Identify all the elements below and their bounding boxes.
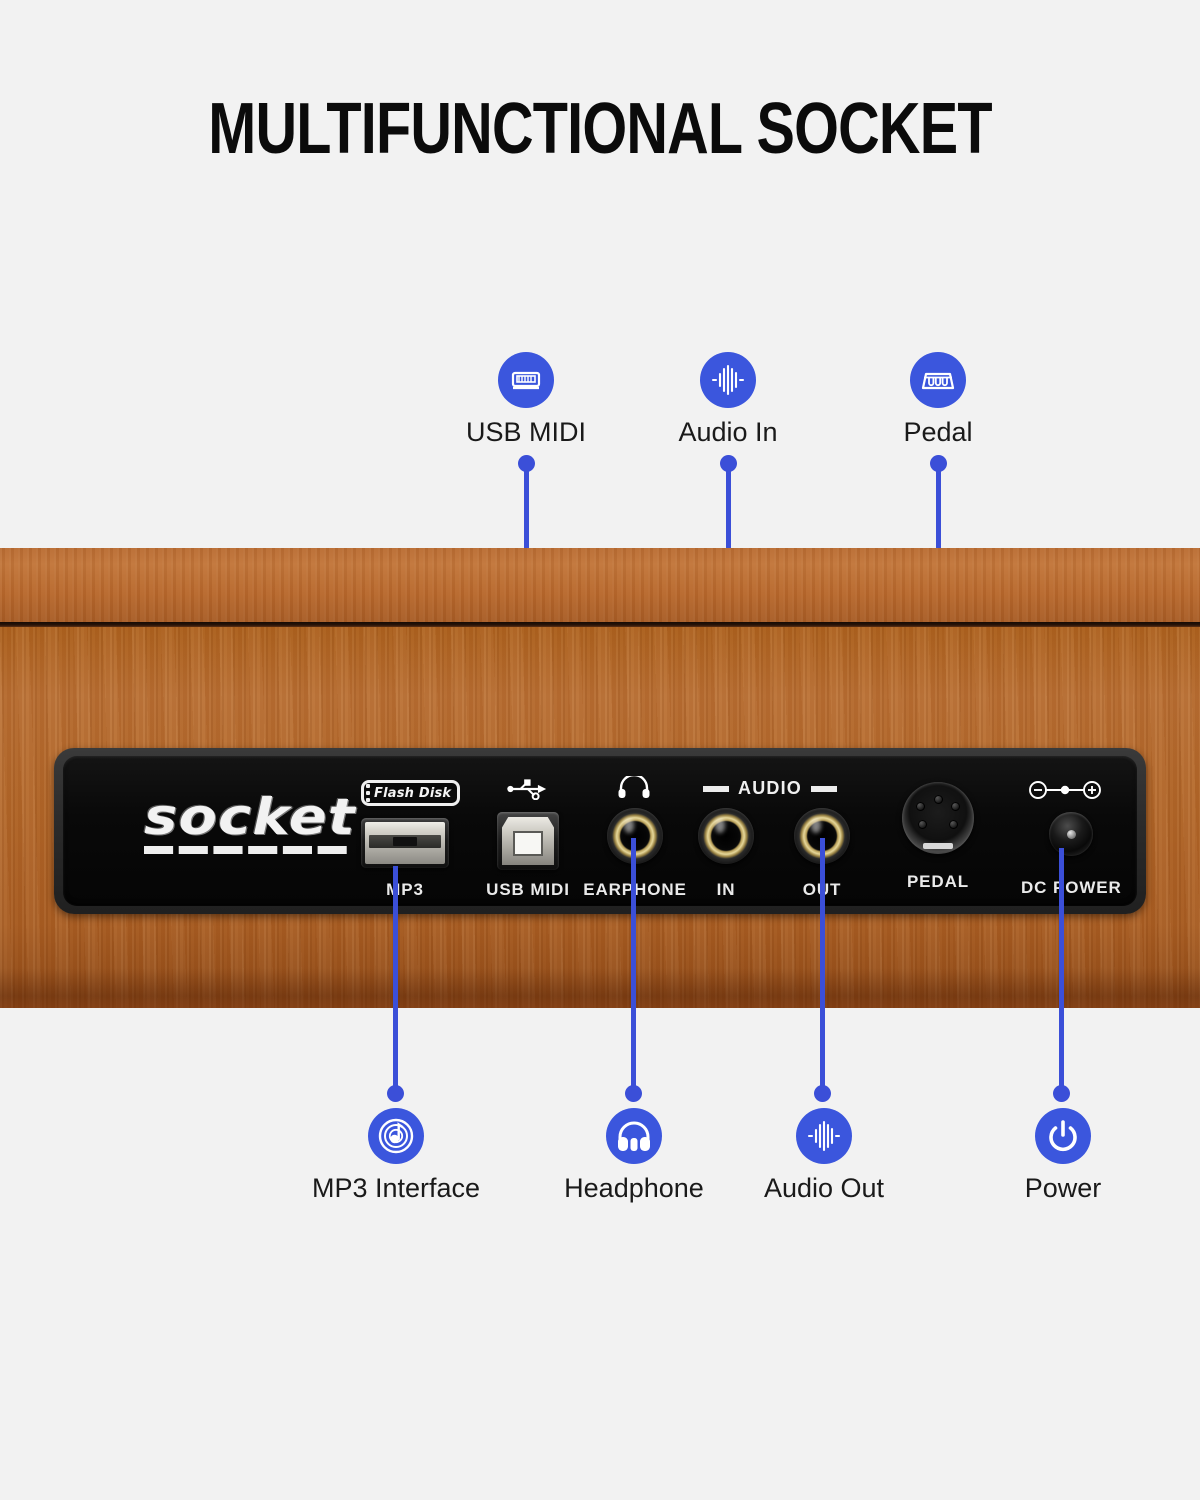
callout-label: Pedal bbox=[838, 419, 1038, 446]
usb-b-port-icon bbox=[497, 812, 559, 870]
leader-line-mp3 bbox=[393, 866, 398, 1094]
callout-pedal[interactable]: Pedal bbox=[838, 352, 1038, 446]
music-disc-icon bbox=[368, 1108, 424, 1164]
port-caption: USB MIDI bbox=[476, 880, 580, 900]
leader-dot-audio-out bbox=[814, 1085, 831, 1102]
page-title: MULTIFUNCTIONAL SOCKET bbox=[120, 88, 1080, 170]
audio-group-header: AUDIO bbox=[703, 778, 837, 799]
callout-label: MP3 Interface bbox=[296, 1175, 496, 1202]
headphone-icon bbox=[606, 1108, 662, 1164]
usb-trident-icon bbox=[505, 778, 547, 805]
din-5pin-icon bbox=[902, 782, 974, 854]
callout-power[interactable]: Power bbox=[963, 1108, 1163, 1202]
waveform-icon bbox=[796, 1108, 852, 1164]
leader-dot-pedal bbox=[930, 455, 947, 472]
leader-line-power bbox=[1059, 848, 1064, 1094]
port-dc-power[interactable]: DC POWER bbox=[1021, 812, 1121, 898]
port-usb-midi[interactable]: USB MIDI bbox=[476, 812, 580, 900]
waveform-icon bbox=[700, 352, 756, 408]
flash-disk-tag: Flash Disk bbox=[361, 780, 460, 806]
flash-disk-label: Flash Disk bbox=[374, 786, 451, 801]
callout-audio-out[interactable]: Audio Out bbox=[724, 1108, 924, 1202]
callout-label: Power bbox=[963, 1175, 1163, 1202]
leader-dot-usb-midi bbox=[518, 455, 535, 472]
audio-header-text: AUDIO bbox=[738, 778, 802, 799]
audio-rule-right bbox=[811, 786, 837, 792]
piano-pedal-icon bbox=[910, 352, 966, 408]
leader-dot-mp3 bbox=[387, 1085, 404, 1102]
flash-disk-pins-icon bbox=[366, 784, 370, 802]
brand-wordmark: socket bbox=[144, 792, 374, 854]
phone-jack-icon bbox=[698, 808, 754, 864]
din-keyway bbox=[923, 843, 953, 849]
port-pedal[interactable]: PEDAL bbox=[902, 782, 974, 892]
port-caption: DC POWER bbox=[1021, 878, 1121, 898]
port-caption: PEDAL bbox=[902, 872, 974, 892]
wood-top-lip bbox=[0, 548, 1200, 622]
leader-dot-headphone bbox=[625, 1085, 642, 1102]
port-audio-in[interactable]: IN bbox=[676, 808, 776, 900]
usb-a-port-icon bbox=[361, 818, 449, 868]
callout-label: Audio In bbox=[628, 419, 828, 446]
leader-line-audio-out bbox=[820, 838, 825, 1094]
leader-dot-power bbox=[1053, 1085, 1070, 1102]
usb-connector-icon bbox=[498, 352, 554, 408]
port-caption: MP3 bbox=[355, 880, 455, 900]
audio-rule-left bbox=[703, 786, 729, 792]
callout-headphone[interactable]: Headphone bbox=[534, 1108, 734, 1202]
power-icon bbox=[1035, 1108, 1091, 1164]
dc-barrel-icon bbox=[1049, 812, 1093, 856]
callout-label: Headphone bbox=[534, 1175, 734, 1202]
callout-usb-midi[interactable]: USB MIDI bbox=[426, 352, 626, 446]
leader-line-headphone bbox=[631, 838, 636, 1094]
callout-label: USB MIDI bbox=[426, 419, 626, 446]
leader-dot-audio-in bbox=[720, 455, 737, 472]
dc-polarity-icon bbox=[1028, 780, 1102, 805]
port-caption: IN bbox=[676, 880, 776, 900]
callout-label: Audio Out bbox=[724, 1175, 924, 1202]
callout-audio-in[interactable]: Audio In bbox=[628, 352, 828, 446]
callout-mp3-interface[interactable]: MP3 Interface bbox=[296, 1108, 496, 1202]
port-mp3[interactable]: MP3 bbox=[355, 818, 455, 900]
headphone-glyph-icon bbox=[617, 776, 651, 803]
product-infographic: MULTIFUNCTIONAL SOCKET USB MIDI bbox=[0, 0, 1200, 1500]
